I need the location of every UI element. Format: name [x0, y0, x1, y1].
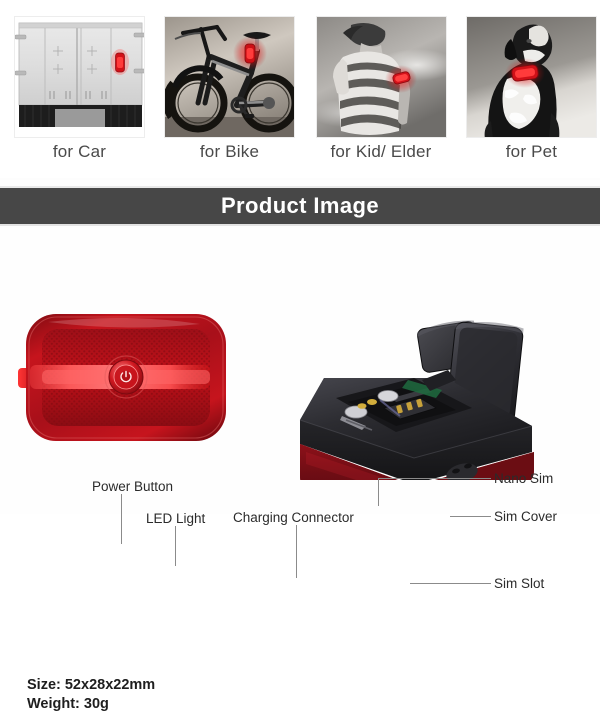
use-case-caption-kid: for Kid/ Elder	[306, 142, 456, 162]
leader-line-sim-slot	[410, 583, 491, 584]
leader-line-sim-cover	[450, 516, 491, 517]
leader-line-nano-sim-bridge	[378, 478, 456, 479]
product-exploded-view	[296, 230, 566, 480]
label-charging-connector: Charging Connector	[233, 510, 354, 525]
gps-tracker-icon	[233, 36, 267, 70]
use-case-card-bike[interactable]: for Bike	[164, 16, 295, 138]
gps-tracker-icon	[111, 49, 129, 75]
use-case-thumbnail-strip: for Car	[0, 0, 600, 178]
use-case-caption-bike: for Bike	[164, 142, 295, 162]
label-power-button: Power Button	[92, 479, 173, 494]
thumbnail-image-car	[14, 16, 145, 138]
thumbnail-image-pet	[466, 16, 597, 138]
leader-line-charging-connector	[296, 525, 297, 578]
product-image-page: for Car	[0, 0, 600, 514]
label-led-light: LED Light	[146, 511, 205, 526]
product-specs: Size: 52x28x22mm Weight: 30g	[27, 676, 155, 714]
label-nano-sim: Nano Sim	[494, 471, 553, 486]
label-sim-slot: Sim Slot	[494, 576, 544, 591]
product-image-banner: Product Image	[0, 186, 600, 226]
gps-tracker-icon	[385, 65, 417, 93]
use-case-caption-car: for Car	[14, 142, 145, 162]
product-diagram-area: Power Button LED Light Charging Connecto…	[0, 228, 600, 514]
leader-line-led-light	[175, 526, 176, 566]
use-case-card-kid[interactable]: for Kid/ Elder	[316, 16, 447, 138]
use-case-card-pet[interactable]: for Pet	[466, 16, 597, 138]
use-case-card-car[interactable]: for Car	[14, 16, 145, 138]
leader-line-nano-sim-drop	[378, 478, 379, 506]
product-front-view	[18, 310, 233, 445]
leader-line-power-button	[121, 494, 122, 544]
thumbnail-image-bike	[164, 16, 295, 138]
spec-weight: Weight: 30g	[27, 695, 155, 714]
use-case-caption-pet: for Pet	[466, 142, 597, 162]
power-button-icon	[105, 356, 147, 398]
spec-size: Size: 52x28x22mm	[27, 676, 155, 695]
label-sim-cover: Sim Cover	[494, 509, 557, 524]
leader-line-nano-sim	[455, 478, 491, 479]
thumbnail-image-kid	[316, 16, 447, 138]
banner-title: Product Image	[221, 193, 379, 219]
gps-tracker-icon	[505, 58, 545, 88]
